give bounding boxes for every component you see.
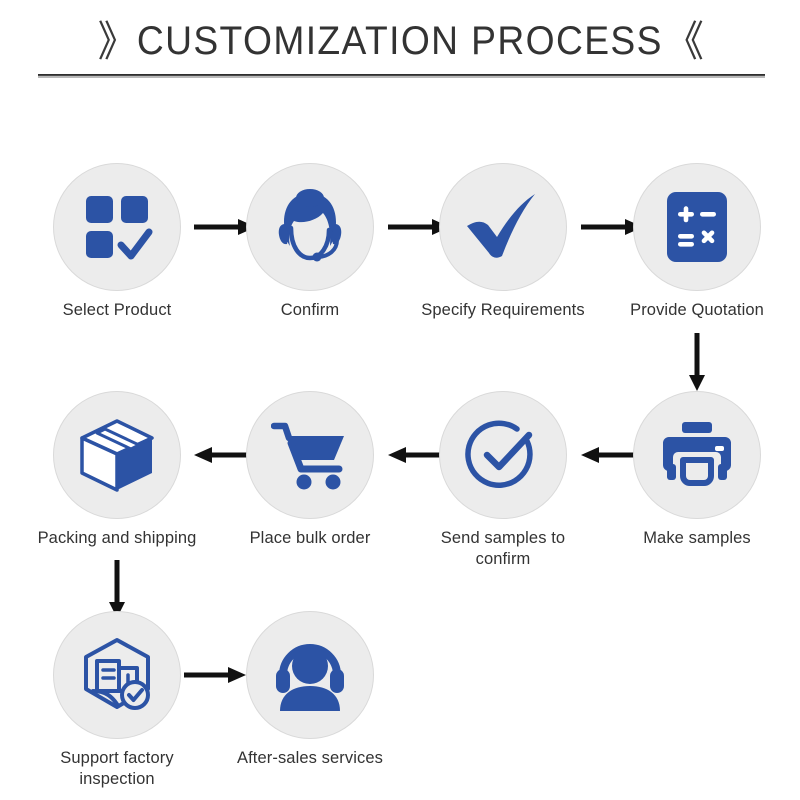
circle-check-icon xyxy=(465,417,541,493)
process-step-packing-and-shipping[interactable]: Packing and shipping xyxy=(27,391,207,549)
step-icon-circle xyxy=(633,391,761,519)
step-label: Select Product xyxy=(27,300,207,321)
step-label: Send samples to confirm xyxy=(413,528,593,570)
step-label: After-sales services xyxy=(220,748,400,769)
step-icon-circle xyxy=(246,163,374,291)
process-step-make-samples[interactable]: Make samples xyxy=(607,391,787,549)
connector-arrow-down-2 xyxy=(106,560,128,618)
process-infographic: 》CUSTOMIZATION PROCESS《 xyxy=(0,0,800,800)
process-step-select-product[interactable]: Select Product xyxy=(27,163,207,321)
headset-person-icon xyxy=(271,188,349,266)
process-step-provide-quotation[interactable]: Provide Quotation xyxy=(607,163,787,321)
process-step-specify-requirements[interactable]: Specify Requirements xyxy=(413,163,593,321)
page-title-text: 》CUSTOMIZATION PROCESS《 xyxy=(98,8,702,69)
step-label: Make samples xyxy=(607,528,787,549)
step-icon-circle xyxy=(439,163,567,291)
chevron-right-icon: 《 xyxy=(665,18,702,65)
calculator-icon xyxy=(665,190,729,264)
process-step-after-sales-services[interactable]: After-sales services xyxy=(220,611,400,769)
step-label: Packing and shipping xyxy=(27,528,207,549)
step-icon-circle xyxy=(246,391,374,519)
step-label: Confirm xyxy=(220,300,400,321)
shield-factory-check-icon xyxy=(78,637,156,713)
page-title: 》CUSTOMIZATION PROCESS《 xyxy=(0,8,800,69)
step-label: Specify Requirements xyxy=(413,300,593,321)
step-icon-circle xyxy=(246,611,374,739)
step-icon-circle xyxy=(53,611,181,739)
step-label: Place bulk order xyxy=(220,528,400,549)
step-label: Support factory inspection xyxy=(27,748,207,790)
process-step-send-samples-to-confirm[interactable]: Send samples to confirm xyxy=(413,391,593,570)
process-step-place-bulk-order[interactable]: Place bulk order xyxy=(220,391,400,549)
grid-check-icon xyxy=(80,190,154,264)
connector-arrow-down-1 xyxy=(686,333,708,391)
printer-icon xyxy=(659,420,735,490)
chevron-left-icon: 》 xyxy=(98,18,135,65)
step-icon-circle xyxy=(633,163,761,291)
support-agent-icon xyxy=(271,639,349,711)
step-icon-circle xyxy=(53,391,181,519)
checkmark-icon xyxy=(463,190,543,264)
step-label: Provide Quotation xyxy=(607,300,787,321)
shopping-cart-icon xyxy=(271,419,349,491)
process-step-confirm[interactable]: Confirm xyxy=(220,163,400,321)
box-icon xyxy=(78,418,156,492)
page-title-label: CUSTOMIZATION PROCESS xyxy=(137,19,663,63)
process-step-support-factory-inspection[interactable]: Support factory inspection xyxy=(27,611,207,790)
step-icon-circle xyxy=(53,163,181,291)
title-divider xyxy=(38,74,765,78)
step-icon-circle xyxy=(439,391,567,519)
